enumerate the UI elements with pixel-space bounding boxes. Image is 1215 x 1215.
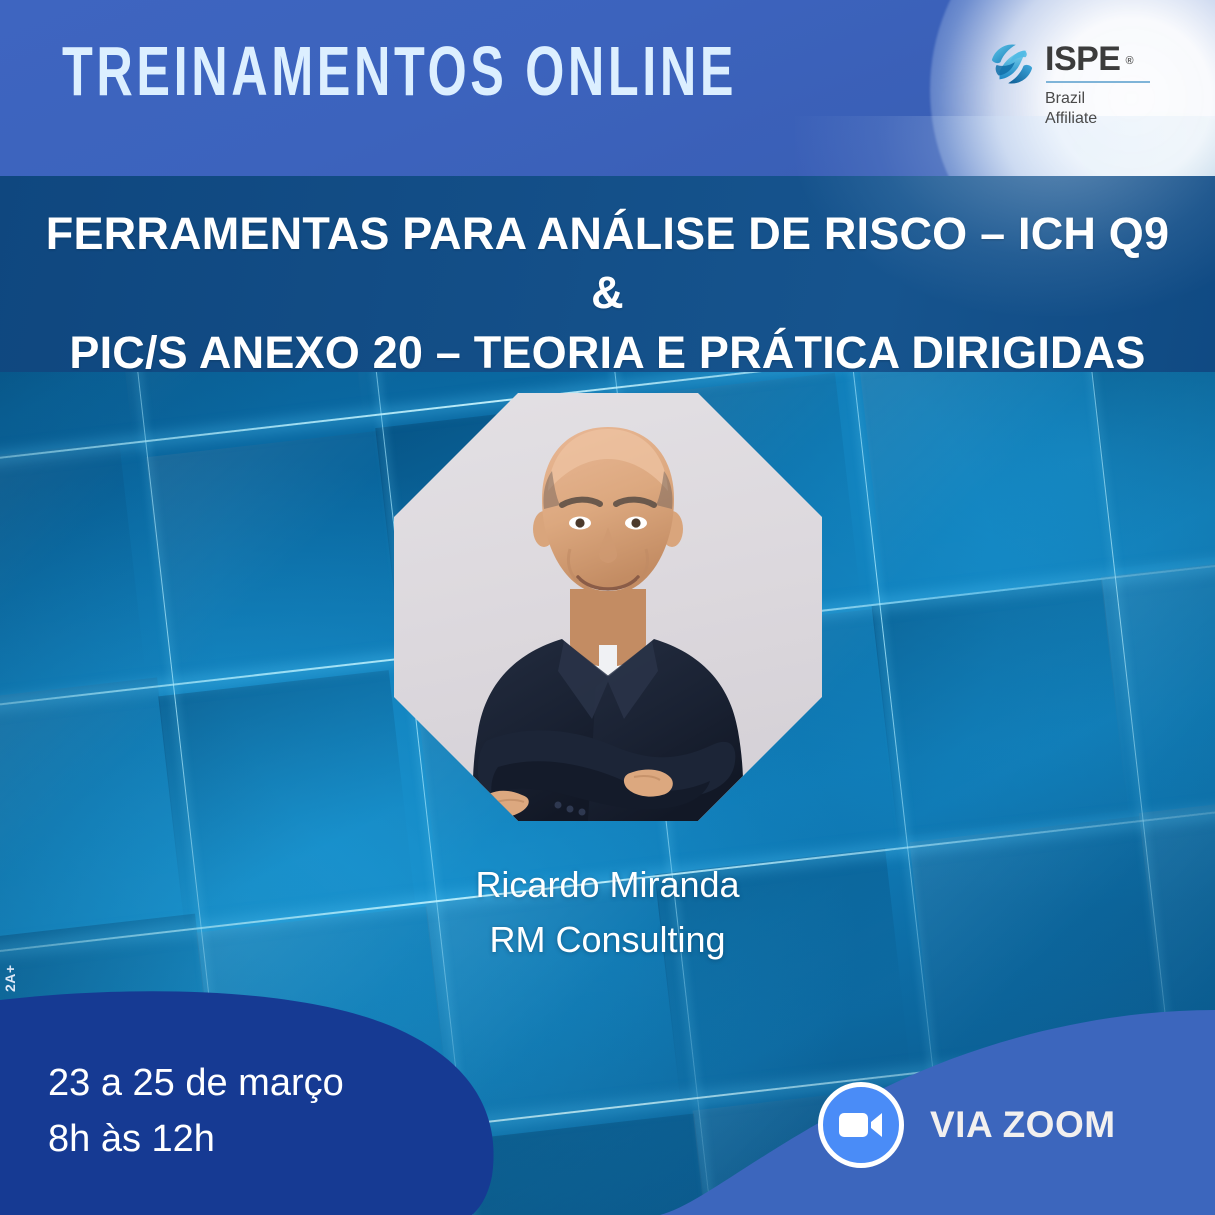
speaker-name: Ricardo Miranda bbox=[0, 858, 1215, 913]
logo-affiliate-line2: Affiliate bbox=[1045, 109, 1150, 129]
course-title-line-1: FERRAMENTAS PARA ANÁLISE DE RISCO – ICH … bbox=[36, 204, 1179, 323]
course-title-line-2: PIC/S ANEXO 20 – TEORIA E PRÁTICA DIRIGI… bbox=[36, 323, 1179, 382]
logo-affiliate-line1: Brazil bbox=[1045, 89, 1150, 109]
zoom-label: VIA ZOOM bbox=[930, 1104, 1116, 1146]
ispe-globe-icon bbox=[988, 40, 1036, 88]
registered-mark: ® bbox=[1125, 56, 1133, 67]
zoom-platform-badge: VIA ZOOM bbox=[818, 1082, 1116, 1168]
speaker-photo bbox=[394, 393, 822, 821]
ispe-logo: ISPE ® Brazil Affiliate bbox=[988, 38, 1178, 148]
logo-divider bbox=[1046, 81, 1150, 83]
ispe-wordmark: ISPE bbox=[1045, 42, 1120, 76]
kicker-heading: TREINAMENTOS ONLINE bbox=[62, 36, 737, 106]
speaker-info: Ricardo Miranda RM Consulting bbox=[0, 858, 1215, 967]
course-title: FERRAMENTAS PARA ANÁLISE DE RISCO – ICH … bbox=[0, 204, 1215, 382]
schedule-dates: 23 a 25 de março bbox=[48, 1055, 344, 1111]
watermark-label: 2A+ bbox=[2, 964, 18, 992]
speaker-portrait-illustration bbox=[394, 393, 822, 821]
schedule-time: 8h às 12h bbox=[48, 1111, 344, 1167]
video-camera-icon bbox=[838, 1108, 884, 1142]
schedule-info: 23 a 25 de março 8h às 12h bbox=[48, 1055, 344, 1167]
promo-poster: TREINAMENTOS ONLINE bbox=[0, 0, 1215, 1215]
speaker-company: RM Consulting bbox=[0, 913, 1215, 968]
zoom-icon-circle bbox=[818, 1082, 904, 1168]
